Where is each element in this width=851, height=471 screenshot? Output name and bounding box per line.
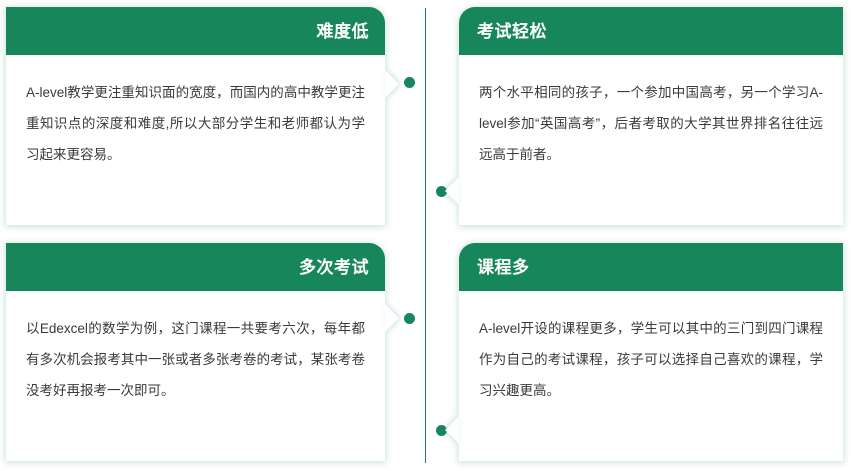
card-many-courses[interactable]: 课程多 A-level开设的课程更多，学生可以其中的三门到四门课程作为自己的考试…: [459, 243, 843, 461]
card-many-courses-title: 课程多: [477, 259, 530, 276]
card-exam-easy-text: 两个水平相同的孩子，一个参加中国高考，另一个学习A-level参加“英国高考”，…: [479, 77, 823, 170]
card-many-courses-notch-icon: [445, 416, 459, 444]
card-exam-easy-header: 考试轻松: [459, 7, 843, 55]
card-multiple-exams-title: 多次考试: [299, 259, 369, 276]
card-many-courses-header: 课程多: [459, 243, 843, 291]
card-difficulty-low-title: 难度低: [317, 23, 370, 40]
card-many-courses-body: A-level开设的课程更多，学生可以其中的三门到四门课程作为自己的考试课程，孩…: [459, 291, 843, 416]
connector-dot-1: [404, 77, 415, 88]
card-multiple-exams-body: 以Edexcel的数学为例，这门课程一共要考六次，每年都有多次机会报考其中一张或…: [6, 291, 385, 416]
card-multiple-exams-notch-icon: [385, 304, 399, 332]
card-difficulty-low[interactable]: 难度低 A-level教学更注重知识面的宽度，而国内的高中教学更注重知识点的深度…: [6, 7, 385, 225]
card-difficulty-low-text: A-level教学更注重知识面的宽度，而国内的高中教学更注重知识点的深度和难度,…: [26, 77, 365, 170]
card-exam-easy-notch-icon: [445, 177, 459, 205]
card-multiple-exams[interactable]: 多次考试 以Edexcel的数学为例，这门课程一共要考六次，每年都有多次机会报考…: [6, 243, 385, 461]
card-exam-easy[interactable]: 考试轻松 两个水平相同的孩子，一个参加中国高考，另一个学习A-level参加“英…: [459, 7, 843, 225]
card-multiple-exams-text: 以Edexcel的数学为例，这门课程一共要考六次，每年都有多次机会报考其中一张或…: [26, 313, 365, 406]
connector-dot-3: [404, 313, 415, 324]
card-multiple-exams-header: 多次考试: [6, 243, 385, 291]
card-difficulty-low-header: 难度低: [6, 7, 385, 55]
card-exam-easy-title: 考试轻松: [477, 23, 547, 40]
card-many-courses-text: A-level开设的课程更多，学生可以其中的三门到四门课程作为自己的考试课程，孩…: [479, 313, 823, 406]
card-exam-easy-body: 两个水平相同的孩子，一个参加中国高考，另一个学习A-level参加“英国高考”，…: [459, 55, 843, 180]
card-difficulty-low-notch-icon: [385, 70, 399, 98]
timeline-vertical-line: [425, 8, 426, 463]
infographic-stage: 难度低 A-level教学更注重知识面的宽度，而国内的高中教学更注重知识点的深度…: [0, 0, 851, 471]
card-difficulty-low-body: A-level教学更注重知识面的宽度，而国内的高中教学更注重知识点的深度和难度,…: [6, 55, 385, 180]
